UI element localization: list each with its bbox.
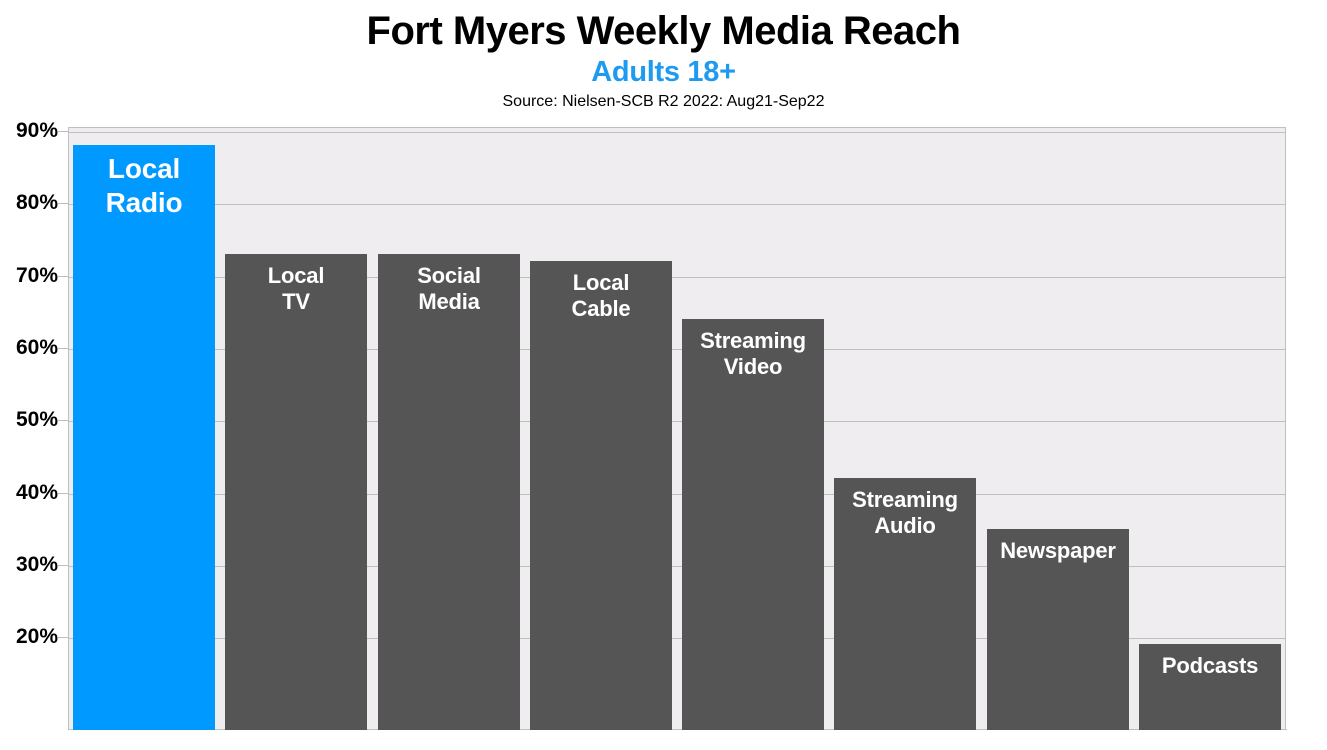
bar-label: Newspaper	[987, 529, 1129, 564]
y-axis-tick-mark	[58, 348, 68, 349]
y-axis-tick-label: 20%	[16, 625, 58, 649]
bar-newspaper[interactable]: Newspaper	[987, 529, 1129, 730]
bar-label: Streaming Audio	[834, 478, 976, 539]
bar-streaming-video[interactable]: Streaming Video	[682, 319, 824, 730]
bar-series: Local RadioLocal TVSocial MediaLocal Cab…	[68, 127, 1286, 730]
bar-local-radio[interactable]: Local Radio	[73, 145, 215, 730]
bar-streaming-audio[interactable]: Streaming Audio	[834, 478, 976, 730]
y-axis-tick-label: 70%	[16, 264, 58, 288]
chart-source-note: Source: Nielsen-SCB R2 2022: Aug21-Sep22	[0, 92, 1327, 112]
bar-local-tv[interactable]: Local TV	[225, 254, 367, 730]
y-axis-tick-mark	[58, 565, 68, 566]
bar-label: Social Media	[378, 254, 520, 315]
y-axis: 20%30%40%50%60%70%80%90%	[0, 0, 68, 750]
bar-label: Local TV	[225, 254, 367, 315]
y-axis-tick-mark	[58, 131, 68, 132]
chart-container: Fort Myers Weekly Media Reach Adults 18+…	[0, 0, 1327, 750]
y-axis-tick-label: 30%	[16, 553, 58, 577]
y-axis-tick-label: 40%	[16, 481, 58, 505]
bar-label: Podcasts	[1139, 644, 1281, 679]
y-axis-tick-label: 50%	[16, 408, 58, 432]
y-axis-tick-label: 90%	[16, 119, 58, 143]
chart-header: Fort Myers Weekly Media Reach Adults 18+…	[0, 0, 1327, 112]
chart-subtitle: Adults 18+	[0, 55, 1327, 89]
y-axis-tick-mark	[58, 493, 68, 494]
y-axis-tick-label: 60%	[16, 336, 58, 360]
y-axis-tick-mark	[58, 637, 68, 638]
y-axis-tick-mark	[58, 276, 68, 277]
bar-social-media[interactable]: Social Media	[378, 254, 520, 730]
bar-label: Local Cable	[530, 261, 672, 322]
y-axis-tick-mark	[58, 203, 68, 204]
y-axis-tick-mark	[58, 420, 68, 421]
bar-label: Streaming Video	[682, 319, 824, 380]
bar-label: Local Radio	[73, 145, 215, 220]
bar-local-cable[interactable]: Local Cable	[530, 261, 672, 730]
y-axis-tick-label: 80%	[16, 191, 58, 215]
bar-podcasts[interactable]: Podcasts	[1139, 644, 1281, 730]
chart-title: Fort Myers Weekly Media Reach	[0, 8, 1327, 54]
